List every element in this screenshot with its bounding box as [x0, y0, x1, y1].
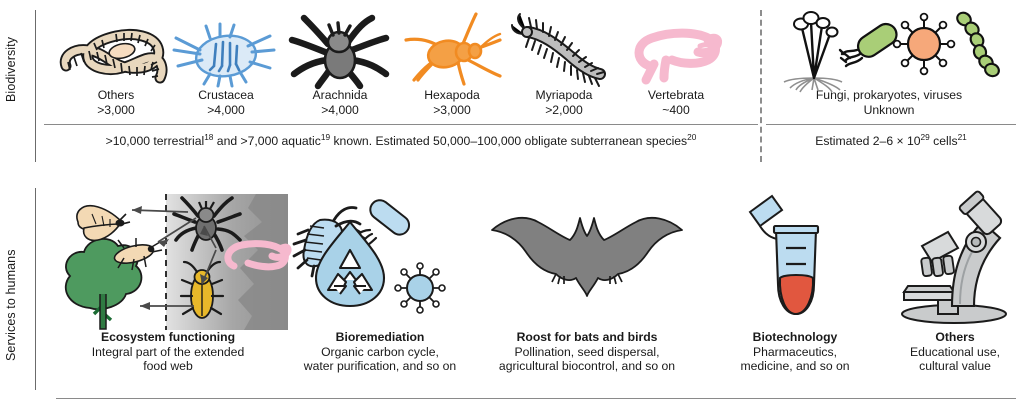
service-line-2: medicine, and so on: [702, 359, 888, 374]
centipede-icon: [508, 10, 620, 88]
footnote-part3: known. Estimated 50,000–100,000 obligate…: [330, 134, 687, 148]
service-line-2: agricultural biocontrol, and so on: [472, 359, 702, 374]
cave-food-web-icon: [48, 188, 288, 330]
service-ecosystem-functioning: Ecosystem functioning Integral part of t…: [48, 188, 288, 374]
crustacean-icon: [170, 10, 282, 88]
footnote-part1: >10,000 terrestrial: [106, 134, 205, 148]
service-title: Others: [888, 330, 1022, 345]
service-others: Others Educational use, cultural value: [888, 188, 1022, 374]
taxon-name: Crustacea: [170, 88, 282, 103]
service-line-1: Pharmaceutics,: [702, 345, 888, 360]
service-line-2: cultural value: [888, 359, 1022, 374]
service-line-2: food web: [48, 359, 288, 374]
service-line-1: Pollination, seed dispersal,: [472, 345, 702, 360]
footnote-ref-19: 19: [321, 132, 330, 142]
footnote-ref-20: 20: [687, 132, 696, 142]
axis-rule-biodiversity: [35, 10, 36, 162]
taxon-count: >3,000: [396, 103, 508, 118]
services-bottom-rule: [56, 398, 1016, 399]
taxon-count: ~400: [620, 103, 732, 118]
service-title: Roost for bats and birds: [472, 330, 702, 345]
taxon-count: Unknown: [784, 103, 994, 118]
taxon-count: >4,000: [170, 103, 282, 118]
taxon-arachnida: Arachnida >4,000: [284, 10, 396, 117]
microscope-icon: [888, 188, 1022, 330]
axis-label-services: Services to humans: [4, 230, 20, 380]
axis-rule-services: [35, 188, 36, 390]
fungi-bacteria-virus-icon: [784, 10, 994, 88]
taxon-name: Hexapoda: [396, 88, 508, 103]
taxon-name: Arachnida: [284, 88, 396, 103]
section-divider-dashed-top: [760, 10, 762, 162]
biodiversity-rule-right: [766, 124, 1016, 125]
footnote-exponent-29: 29: [921, 132, 930, 142]
taxon-name: Others: [58, 88, 174, 103]
taxon-myriapoda: Myriapoda >2,000: [508, 10, 620, 117]
biodiversity-footnote-microbes: Estimated 2–6 × 1029 cells21: [766, 134, 1016, 149]
service-line-1: Organic carbon cycle,: [288, 345, 472, 360]
service-line-1: Educational use,: [888, 345, 1022, 360]
axis-label-biodiversity: Biodiversity: [4, 14, 20, 124]
taxon-name: Vertebrata: [620, 88, 732, 103]
service-line-1: Integral part of the extended: [48, 345, 288, 360]
spider-icon: [284, 10, 396, 88]
service-bioremediation: Bioremediation Organic carbon cycle, wat…: [288, 188, 472, 374]
footnote-part2: and >7,000 aquatic: [213, 134, 320, 148]
taxon-name: Fungi, prokaryotes, viruses: [784, 88, 994, 103]
footnote-ref-21: 21: [958, 132, 967, 142]
water-droplet-recycle-icon: [288, 188, 472, 330]
annelid-worm-icon: [58, 10, 174, 88]
bat-icon: [472, 188, 702, 330]
taxon-vertebrata: Vertebrata ~400: [620, 10, 732, 117]
service-title: Bioremediation: [288, 330, 472, 345]
taxon-count: >2,000: [508, 103, 620, 118]
ant-insect-icon: [396, 10, 508, 88]
biodiversity-footnote-macrofauna: >10,000 terrestrial18 and >7,000 aquatic…: [44, 134, 758, 149]
test-tube-pipette-icon: [702, 188, 888, 330]
taxon-crustacea: Crustacea >4,000: [170, 10, 282, 117]
biodiversity-rule-left: [44, 124, 758, 125]
taxon-count: >3,000: [58, 103, 174, 118]
service-biotechnology: Biotechnology Pharmaceutics, medicine, a…: [702, 188, 888, 374]
footnote-part2: cells: [930, 134, 958, 148]
taxon-hexapoda: Hexapoda >3,000: [396, 10, 508, 117]
service-line-2: water purification, and so on: [288, 359, 472, 374]
taxon-name: Myriapoda: [508, 88, 620, 103]
footnote-part1: Estimated 2–6 × 10: [815, 134, 920, 148]
figure-root: Biodiversity Others >3,000: [0, 0, 1027, 414]
service-title: Biotechnology: [702, 330, 888, 345]
service-roost-bats-birds: Roost for bats and birds Pollination, se…: [472, 188, 702, 374]
salamander-icon: [620, 10, 732, 88]
service-title: Ecosystem functioning: [48, 330, 288, 345]
taxon-others: Others >3,000: [58, 10, 174, 117]
taxon-count: >4,000: [284, 103, 396, 118]
taxon-microbes: Fungi, prokaryotes, viruses Unknown: [784, 10, 994, 117]
